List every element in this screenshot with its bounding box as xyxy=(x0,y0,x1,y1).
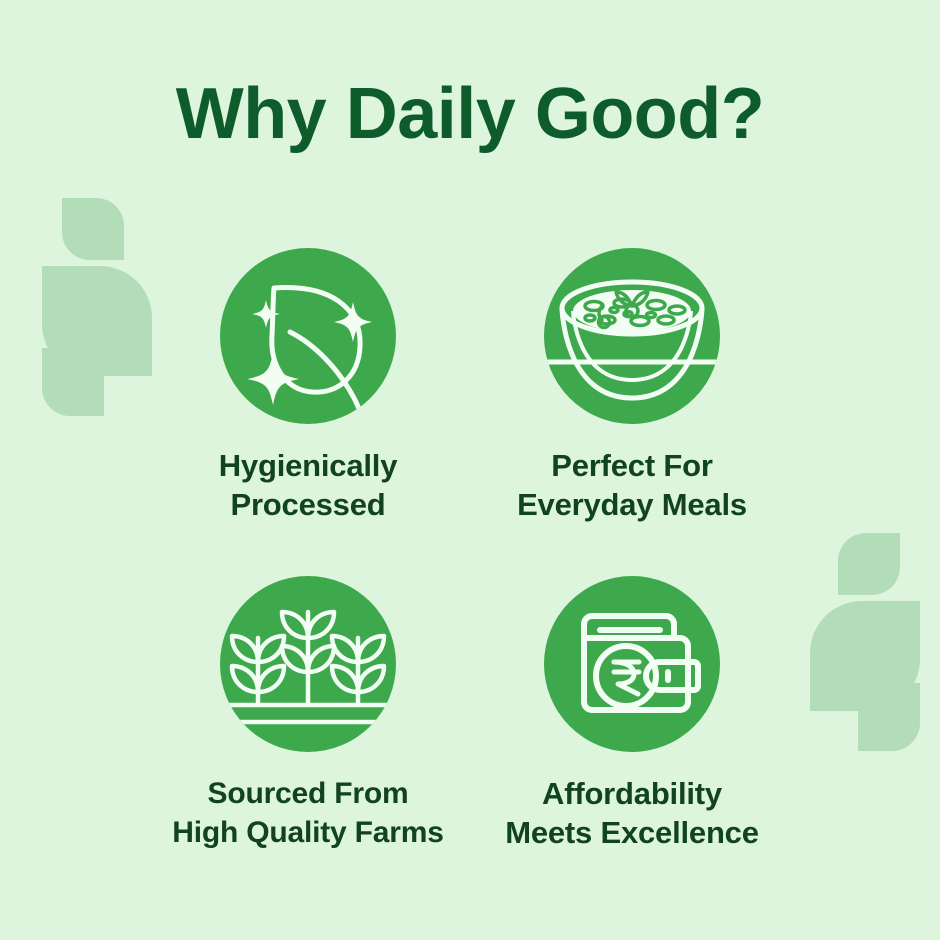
sparkle-leaf-icon xyxy=(220,248,396,424)
feature-label: Hygienically Processed xyxy=(219,446,398,524)
feature-card-sourced-from-high-quality-farms: Sourced From High Quality Farms xyxy=(146,576,470,852)
leaf-cluster-left-decoration xyxy=(42,198,162,418)
page-title: Why Daily Good? xyxy=(0,74,940,154)
feature-card-hygienically-processed: Hygienically Processed xyxy=(146,248,470,576)
icon-badge xyxy=(220,576,396,752)
feature-grid: Hygienically Processed xyxy=(146,248,794,852)
icon-badge xyxy=(544,576,720,752)
decor-leaf-small-top xyxy=(838,533,900,595)
rupee-wallet-icon xyxy=(544,576,720,752)
decor-leaf-small-bottom xyxy=(858,683,920,751)
feature-label: Affordability Meets Excellence xyxy=(505,774,759,852)
poster-canvas: Why Daily Good? xyxy=(0,0,940,940)
decor-leaf-small-bottom xyxy=(42,348,104,416)
feature-label: Sourced From High Quality Farms xyxy=(172,774,443,852)
feature-label: Perfect For Everyday Meals xyxy=(517,446,747,524)
icon-badge xyxy=(544,248,720,424)
wheat-farm-icon xyxy=(220,576,396,752)
soup-bowl-icon xyxy=(544,248,720,424)
rupee-symbol xyxy=(614,662,639,694)
icon-badge xyxy=(220,248,396,424)
feature-card-perfect-for-everyday-meals: Perfect For Everyday Meals xyxy=(470,248,794,576)
decor-leaf-small-top xyxy=(62,198,124,260)
feature-card-affordability-meets-excellence: Affordability Meets Excellence xyxy=(470,576,794,852)
leaf-cluster-right-decoration xyxy=(800,533,920,753)
